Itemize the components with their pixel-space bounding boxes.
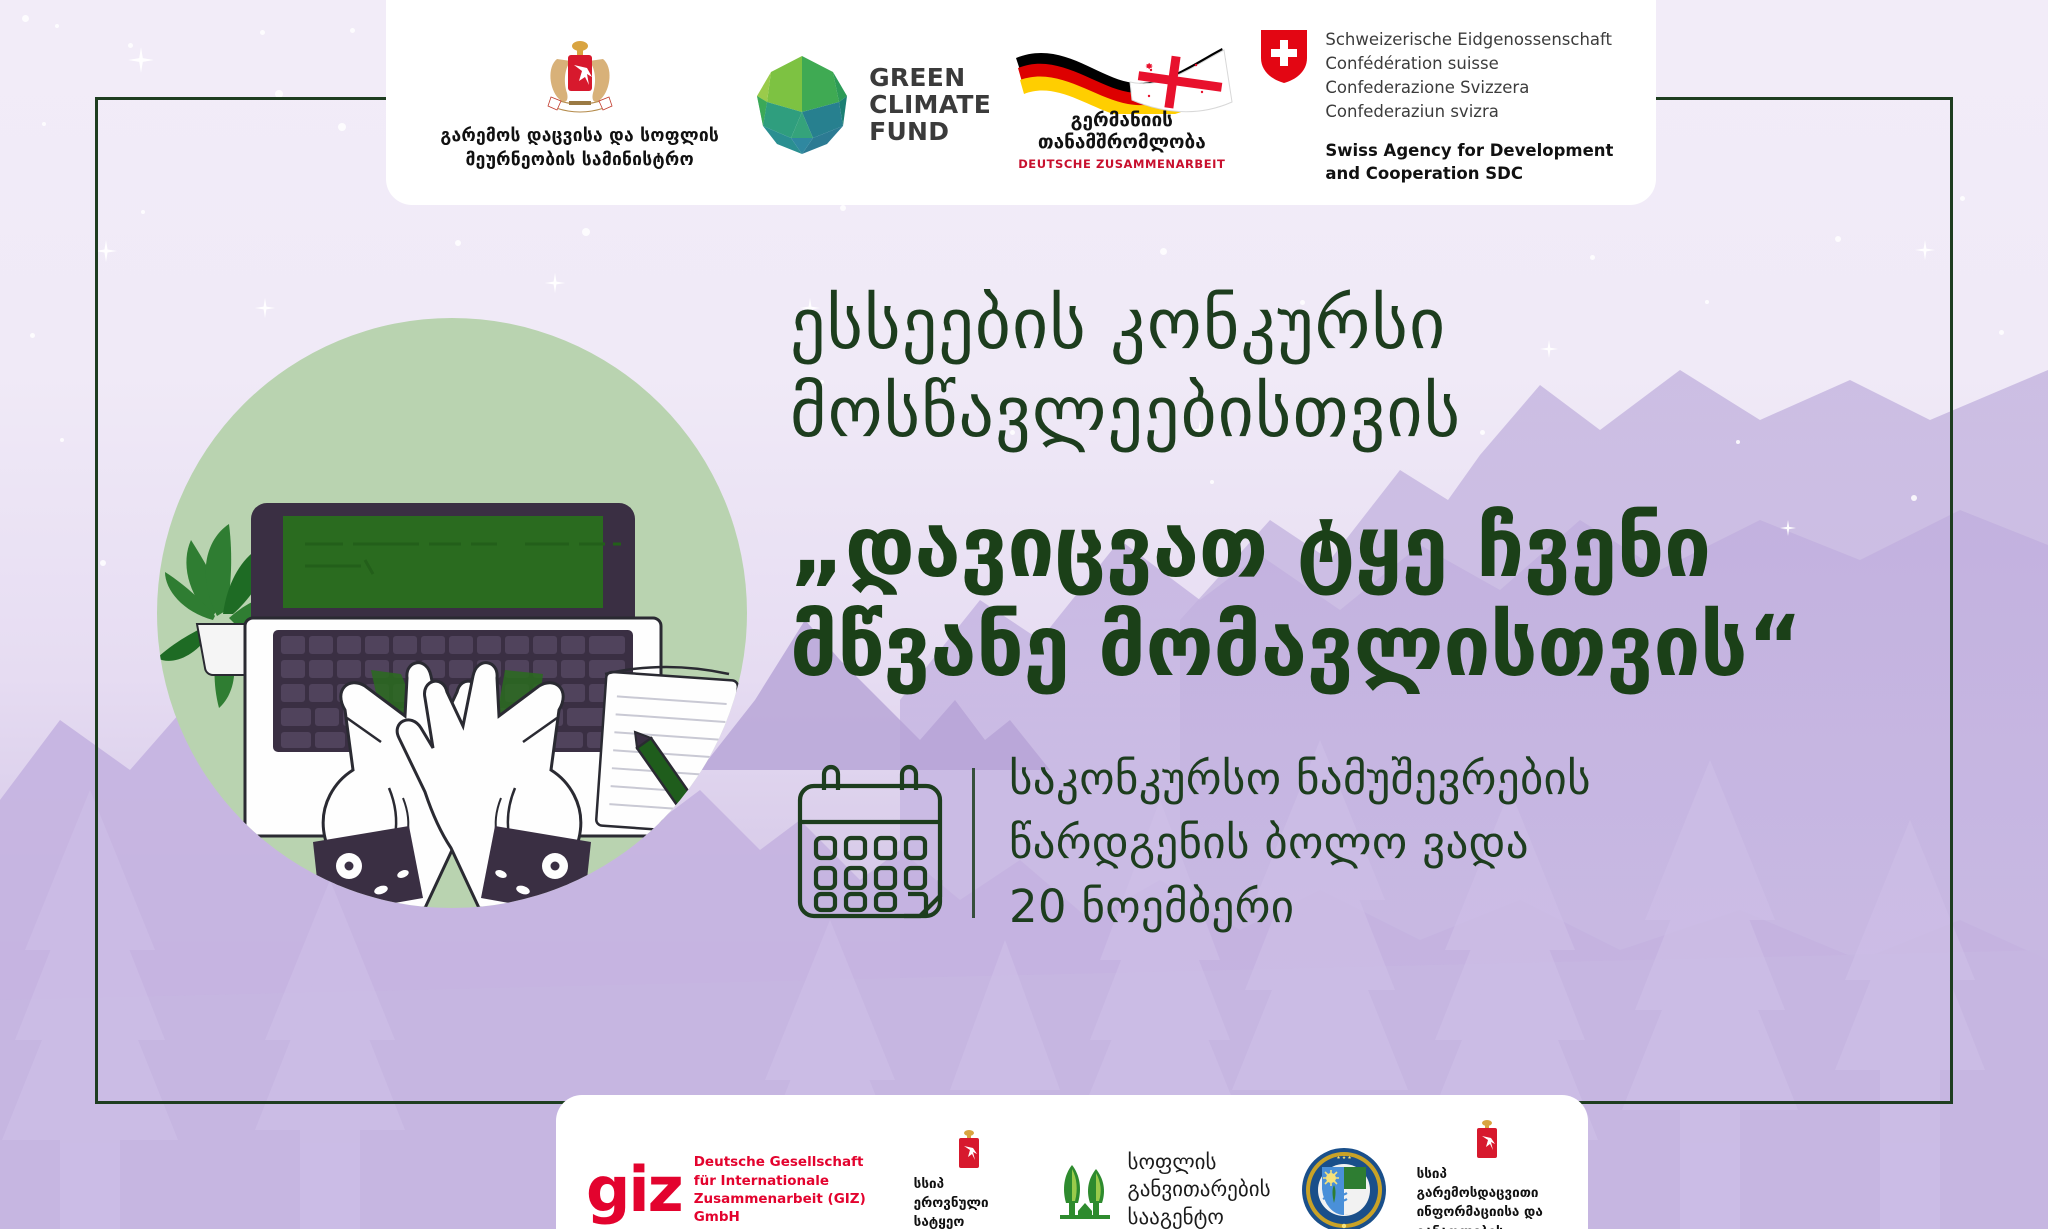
giz-wordmark: giz: [586, 1165, 682, 1216]
deadline-divider: [972, 768, 975, 918]
national-forestry-agency-caption: სსიპ ეროვნული სატყეო სააგენტო: [914, 1175, 1024, 1229]
swiss-text-block: Schweizerische Eidgenossenschaft Confédé…: [1325, 28, 1613, 185]
logo-agency-seal: ★ ★ ★: [1301, 1147, 1387, 1229]
top-logo-row: გარემოს დაცვისა და სოფლის მეურნეობის სამ…: [386, 0, 1656, 205]
georgia-mini-crest-icon: [954, 1129, 984, 1171]
illustration-person-typing: [157, 318, 747, 908]
logo-rural-development-agency: სოფლის განვითარების სააგენტო: [1054, 1149, 1271, 1229]
georgia-coat-of-arms-icon: [543, 37, 617, 117]
logo-swiss-sdc: Schweizerische Eidgenossenschaft Confédé…: [1243, 24, 1630, 185]
environmental-info-center-caption: სსიპ გარემოსდაცვითი ინფორმაციისა და განა…: [1417, 1165, 1558, 1229]
round-agency-seal-icon: ★ ★ ★: [1301, 1147, 1387, 1229]
giz-fullname: Deutsche Gesellschaft für Internationale…: [694, 1153, 884, 1226]
logo-german-cooperation: გერმანიის თანამშრომლობა DEUTSCHE ZUSAMME…: [1001, 38, 1243, 171]
two-trees-icon: [1054, 1159, 1116, 1221]
laptop-workspace-illustration: [157, 318, 747, 908]
georgia-mini-crest-icon: [1472, 1119, 1502, 1161]
hands-icon: [313, 663, 591, 908]
contest-kicker: ესსეების კონკურსი მოსწავლეებისთვის: [790, 280, 1950, 456]
logo-environmental-info-center: სსიპ გარემოსდაცვითი ინფორმაციისა და განა…: [1417, 1119, 1558, 1229]
poster-headline: „დავიცვათ ტყე ჩვენი მწვანე მომავლისთვის“: [790, 498, 1950, 695]
rural-development-agency-caption: სოფლის განვითარების სააგენტო: [1128, 1149, 1271, 1229]
laptop-screen: [283, 516, 603, 608]
swiss-shield-icon: [1259, 28, 1309, 84]
logo-giz: giz Deutsche Gesellschaft für Internatio…: [586, 1153, 884, 1226]
calendar-icon: [790, 760, 958, 925]
german-cooperation-caption: გერმანიის თანამშრომლობა: [1038, 110, 1206, 154]
deadline-block: საკონკურსო ნამუშევრების წარდგენის ბოლო ვ…: [790, 747, 1950, 939]
notepad-icon: [596, 667, 738, 834]
poster-canvas: გარემოს დაცვისა და სოფლის მეურნეობის სამ…: [0, 0, 2048, 1229]
logo-national-forestry-agency: სსიპ ეროვნული სატყეო სააგენტო: [914, 1129, 1024, 1229]
gcf-wordmark: GREEN CLIMATE FUND: [869, 64, 991, 145]
deadline-text: საკონკურსო ნამუშევრების წარდგენის ბოლო ვ…: [1009, 747, 1591, 939]
bottom-logo-row: giz Deutsche Gesellschaft für Internatio…: [556, 1095, 1588, 1229]
logo-ministry-environment: გარემოს დაცვისა და სოფლის მეურნეობის სამ…: [420, 37, 739, 171]
swiss-agency-name: Swiss Agency for Development and Coopera…: [1325, 140, 1613, 185]
green-climate-fund-globe-icon: [749, 52, 855, 158]
swiss-languages: Schweizerische Eidgenossenschaft Confédé…: [1325, 28, 1613, 124]
main-content: ესსეების კონკურსი მოსწავლეებისთვის „დავი…: [790, 280, 1950, 939]
ministry-caption: გარემოს დაცვისა და სოფლის მეურნეობის სამ…: [440, 125, 719, 171]
svg-text:★ ★ ★: ★ ★ ★: [1336, 1155, 1351, 1161]
logo-green-climate-fund: GREEN CLIMATE FUND: [739, 52, 1000, 158]
german-cooperation-subcaption: DEUTSCHE ZUSAMMENARBEIT: [1018, 157, 1225, 171]
germany-georgia-flag-wave-icon: [1010, 38, 1234, 114]
